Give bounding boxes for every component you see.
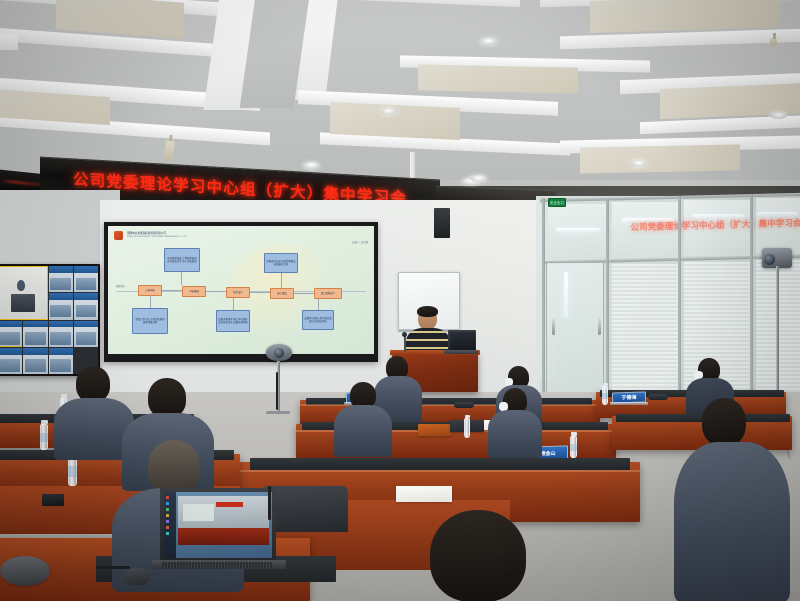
slide-meta: 汇报人：综合部 [352, 240, 368, 244]
monitoring-laptop-screen[interactable] [164, 492, 272, 558]
tripod-pole [776, 266, 779, 406]
video-tile[interactable] [49, 321, 73, 347]
wall-speaker [434, 208, 450, 238]
video-tile[interactable] [23, 321, 47, 347]
camera-cable [276, 372, 278, 410]
presenter-hair [417, 306, 438, 317]
desk-mic [648, 394, 668, 400]
ceiling-tube-light [556, 228, 600, 232]
name-plate-text: 鲍金山 [540, 449, 555, 457]
ptz-camera-lens [274, 348, 284, 358]
tripod-camera-lens [764, 254, 775, 265]
exit-sign: 安全出口 [548, 198, 566, 207]
laptop-keyboard[interactable] [162, 562, 272, 568]
notebook [418, 424, 452, 436]
ceiling-downlight [770, 112, 787, 119]
ceiling-downlight [303, 162, 320, 169]
flow-detail: 设备采购清单 施工单位招标 安全技术交底 质量监督申报 [216, 310, 250, 332]
presenter-laptop-screen [450, 332, 475, 351]
video-tile[interactable] [74, 293, 98, 319]
usb-cable [96, 566, 130, 569]
attendee-head [148, 378, 186, 418]
podium-mic-stem [404, 336, 406, 352]
video-tile[interactable] [49, 293, 73, 319]
door-handle[interactable] [598, 318, 601, 335]
computer-mouse[interactable] [124, 568, 150, 585]
laptop-video-feed [178, 496, 269, 545]
ceiling-downlight [380, 108, 397, 115]
ceiling-downlight [470, 175, 487, 182]
papers [396, 486, 452, 502]
water-bottle [464, 418, 470, 438]
attendee-head [702, 398, 746, 446]
attendee-body [334, 405, 392, 457]
glass-transom-pane [548, 204, 606, 260]
desk-mat [250, 458, 630, 470]
video-conference-wall[interactable] [0, 266, 98, 374]
power-cable [268, 486, 271, 520]
smartphone [42, 494, 64, 506]
video-tile[interactable] [49, 348, 73, 374]
video-tile[interactable] [74, 321, 98, 347]
attendee-body [674, 442, 790, 601]
slide-title: 国网电力新能源投资管理有限公司 [127, 231, 166, 235]
coffered-ceiling [0, 0, 800, 186]
video-tile[interactable] [0, 348, 22, 374]
podium-mic [402, 332, 407, 337]
flow-detail: 结算审计报告 资产移交清册 运行指标考核 [302, 310, 334, 330]
exit-sign-text: 安全出口 [550, 200, 564, 205]
attendee-head [76, 366, 110, 402]
presenter-laptop-lid[interactable] [448, 330, 476, 352]
conference-room-photo: 公司党委理论学习中心组（扩大）集中学习会 国网电力新能源投资管理有限公司 STA… [0, 0, 800, 601]
video-tile[interactable] [23, 348, 47, 374]
camera-stand-base [266, 411, 290, 414]
monitoring-laptop-lid[interactable] [160, 488, 276, 562]
video-tile[interactable] [49, 266, 73, 292]
flow-node: 施工建设 [270, 288, 294, 299]
video-tile[interactable] [0, 321, 22, 347]
flow-detail: 项目备案核准 土地预审意见 环评批复文件 接入系统批复 [164, 248, 200, 272]
slide-subtitle: STATE GRID NEW ENERGY INVESTMENT MANAGEM… [127, 236, 187, 238]
slide-logo-icon [114, 231, 123, 240]
headphones [0, 556, 50, 586]
flow-axis-label: 流程时间 [116, 284, 125, 288]
attendee-head [148, 440, 200, 494]
ceiling-downlight [480, 38, 497, 45]
flow-detail: 资金计划下达 专项资金拨付 成本测算说明 [132, 308, 168, 334]
desk-mic [454, 402, 474, 408]
video-tile[interactable] [74, 266, 98, 292]
flow-node: 可研编制 [182, 286, 206, 297]
corridor-tube-light [564, 272, 568, 318]
projection-screen[interactable]: 国网电力新能源投资管理有限公司 STATE GRID NEW ENERGY IN… [108, 226, 374, 354]
attendee-head [430, 510, 526, 601]
flow-detail: 并网调试记录 技术资料移交 运维移交手续 [264, 253, 298, 273]
flow-node: 初步设计 [226, 287, 250, 298]
video-tile[interactable] [0, 266, 48, 320]
smoke-detector-icon [770, 38, 777, 46]
attendee-body [488, 410, 542, 458]
door-handle[interactable] [552, 318, 555, 335]
flow-node: 立项申报 [138, 285, 162, 296]
name-plate-text: 于德海 [621, 394, 636, 402]
ceiling-downlight [630, 160, 647, 167]
flow-node: 竣工验收投产 [314, 288, 342, 299]
presenter-laptop-base[interactable] [444, 350, 478, 354]
